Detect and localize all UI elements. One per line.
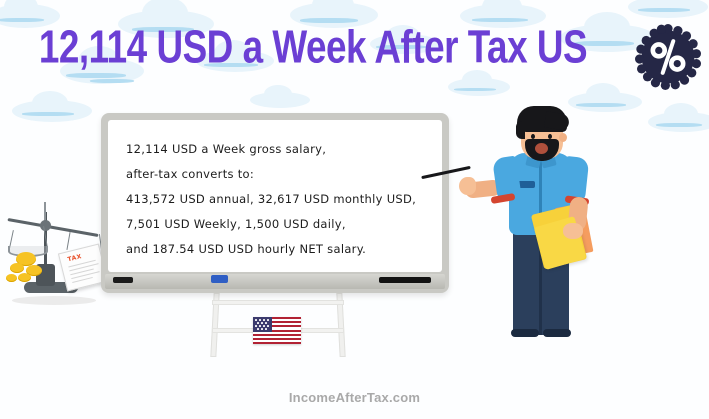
board-line: 12,114 USD a Week gross salary,	[126, 137, 432, 162]
percent-badge-icon	[635, 24, 701, 90]
whiteboard-text: 12,114 USD a Week gross salary, after-ta…	[126, 137, 432, 262]
presenter-person-icon	[455, 105, 625, 335]
tax-label: TAX	[67, 253, 83, 263]
board-line: 413,572 USD annual, 32,617 USD monthly U…	[126, 187, 432, 212]
board-line: after-tax converts to:	[126, 162, 432, 187]
cloud-shape	[250, 92, 310, 108]
us-flag-icon	[253, 317, 301, 344]
infographic-canvas: 12,114 USD a Week After Tax US	[0, 0, 709, 419]
balance-scale-icon: TAX	[0, 100, 112, 210]
black-marker-icon	[113, 277, 133, 283]
page-title: 12,114 USD a Week After Tax US	[9, 22, 616, 74]
board-line: and 187.54 USD USD hourly NET salary.	[126, 237, 432, 262]
person-right-hand	[563, 223, 583, 239]
board-line: 7,501 USD Weekly, 1,500 USD daily,	[126, 212, 432, 237]
person-shoe	[543, 329, 571, 337]
whiteboard: 12,114 USD a Week gross salary, after-ta…	[101, 113, 449, 293]
person-shoe	[511, 329, 539, 337]
cloud-shape	[648, 112, 709, 132]
black-marker-icon	[379, 277, 431, 283]
cloud-shape	[448, 78, 510, 96]
whiteboard-surface: 12,114 USD a Week gross salary, after-ta…	[108, 120, 442, 272]
marker-tray	[105, 274, 445, 289]
person-left-hand	[459, 177, 476, 195]
site-watermark: IncomeAfterTax.com	[0, 390, 709, 405]
cloud-shape	[628, 0, 708, 18]
blue-eraser-icon	[211, 275, 228, 283]
board-stand-rail	[212, 300, 344, 305]
